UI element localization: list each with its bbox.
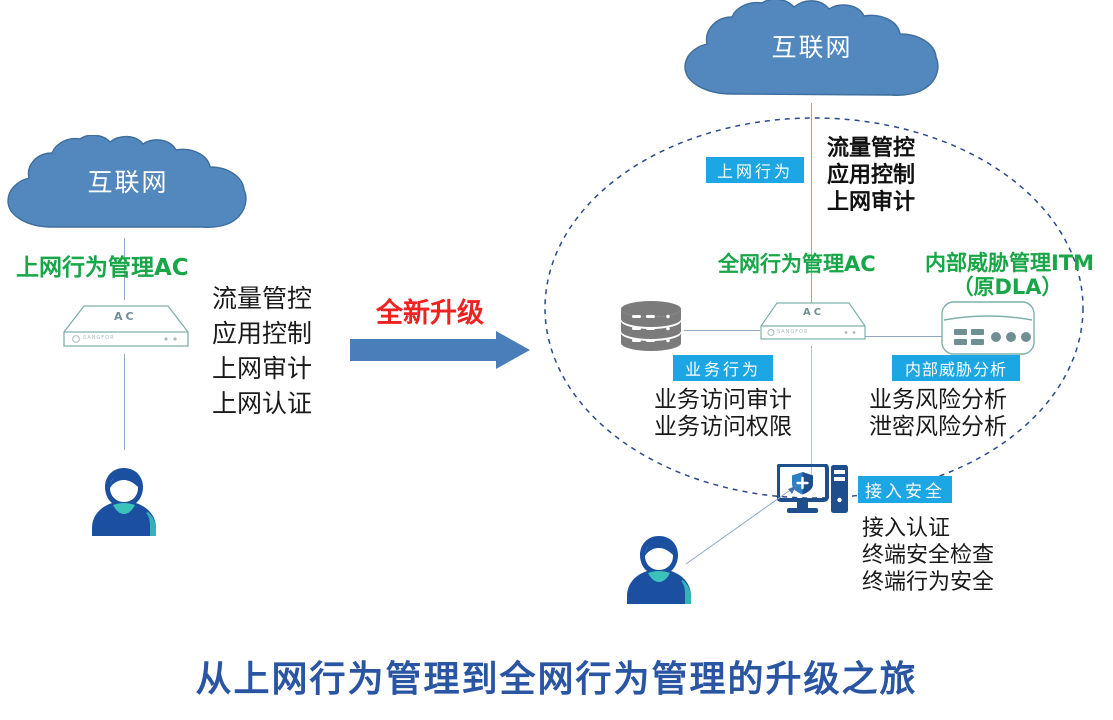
- tag-business-behavior: 业务行为: [673, 355, 773, 381]
- tag-internet-behavior: 上网行为: [706, 157, 804, 183]
- left-col-feature-1: 业务访问审计: [654, 387, 792, 415]
- user-to-endpoint-line: [680, 480, 800, 570]
- right-top-feature-3: 上网审计: [827, 190, 915, 217]
- center-ac-title: 全网行为管理AC: [718, 253, 876, 277]
- diagram-canvas: 互联网 上网行为管理AC AC SANGFOR 流量管控 应用控制 上网审计 上…: [0, 0, 1113, 720]
- itm-title-line1: 内部威胁管理ITM: [925, 252, 1090, 276]
- ac-to-itm-line: [862, 336, 942, 337]
- left-device-to-user-line: [124, 354, 125, 450]
- itm-title-line2: （原DLA）: [925, 276, 1090, 300]
- left-internet-cloud: 互联网: [0, 135, 256, 239]
- cloud-icon: [676, 0, 948, 106]
- right-arrow-icon: [350, 331, 530, 369]
- left-device-title: 上网行为管理AC: [16, 256, 189, 282]
- user-avatar-icon: [88, 462, 160, 540]
- page-title: 从上网行为管理到全网行为管理的升级之旅: [0, 650, 1113, 702]
- center-ac-face-text: AC: [803, 307, 824, 318]
- db-to-ac-line: [684, 330, 760, 331]
- database-stack-icon: [618, 300, 684, 358]
- left-feature-4: 上网认证: [212, 389, 312, 419]
- itm-appliance: [940, 300, 1036, 356]
- cloud-icon: [0, 135, 256, 239]
- tag-insider-threat-analysis: 内部威胁分析: [892, 355, 1020, 381]
- right-internet-cloud: 互联网: [676, 0, 948, 106]
- center-ac-appliance: AC SANGFOR: [759, 300, 867, 346]
- left-feature-2: 应用控制: [212, 319, 312, 349]
- diagonal-connector-icon: [680, 480, 800, 570]
- endpoint-feature-2: 终端安全检查: [862, 543, 994, 569]
- right-col-feature-2: 泄密风险分析: [869, 414, 1007, 442]
- user-avatar-icon: [623, 530, 695, 608]
- itm-appliance-icon: [940, 300, 1036, 356]
- right-user-avatar: [623, 530, 695, 608]
- database-stack: [618, 300, 684, 358]
- right-col-feature-1: 业务风险分析: [869, 387, 1007, 415]
- tag-access-security: 接入安全: [858, 476, 952, 503]
- right-top-feature-1: 流量管控: [827, 136, 915, 163]
- left-col-feature-2: 业务访问权限: [654, 414, 792, 442]
- upgrade-arrow-label: 全新升级: [376, 291, 484, 330]
- upgrade-arrow: [350, 331, 530, 369]
- left-user-avatar: [88, 462, 160, 540]
- endpoint-feature-3: 终端行为安全: [862, 570, 994, 596]
- right-top-feature-2: 应用控制: [827, 163, 915, 190]
- left-feature-3: 上网审计: [212, 354, 312, 384]
- right-cloud-to-ac-line: [811, 103, 812, 315]
- endpoint-feature-1: 接入认证: [862, 516, 950, 542]
- left-feature-1: 流量管控: [212, 284, 312, 314]
- left-ac-appliance: AC SANGFOR: [62, 302, 190, 354]
- left-ac-face-text: AC: [114, 310, 137, 323]
- left-ac-brand-text: SANGFOR: [83, 335, 115, 341]
- center-ac-brand-text: SANGFOR: [777, 329, 809, 335]
- column-divider-line: [811, 348, 812, 476]
